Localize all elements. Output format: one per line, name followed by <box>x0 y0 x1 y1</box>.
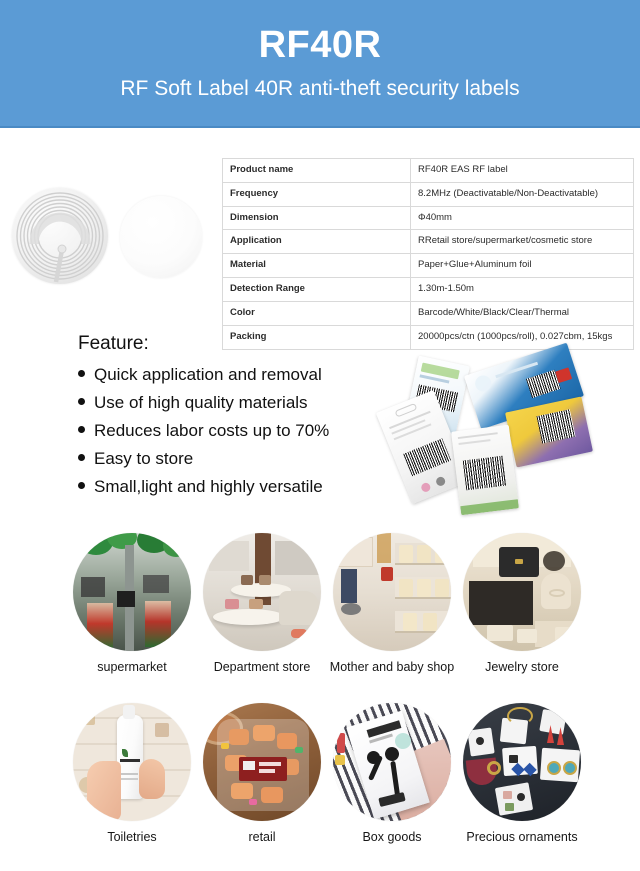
feature-text: Easy to store <box>94 448 193 471</box>
list-item: Reduces labor costs up to 70% <box>78 420 388 443</box>
package-item <box>451 425 519 515</box>
list-item: Small,light and highly versatile <box>78 476 388 499</box>
list-item: Quick application and removal <box>78 364 388 387</box>
application-caption: Department store <box>197 660 327 675</box>
page-header-banner: RF40R RF Soft Label 40R anti-theft secur… <box>0 0 640 128</box>
application-item-mother-baby-shop: Mother and baby shop <box>327 533 457 675</box>
spec-key: Detection Range <box>223 278 411 302</box>
toiletries-photo <box>73 703 191 821</box>
spec-key: Frequency <box>223 182 411 206</box>
table-row: Material Paper+Glue+Aluminum foil <box>223 254 634 278</box>
spec-key: Application <box>223 230 411 254</box>
spec-value: Barcode/White/Black/Clear/Thermal <box>411 301 634 325</box>
application-item-toiletries: Toiletries <box>67 703 197 845</box>
rf-label-coil-photo <box>12 188 108 284</box>
bullet-icon <box>78 426 85 433</box>
application-item-retail: retail <box>197 703 327 845</box>
feature-list-title: Feature: <box>78 333 388 356</box>
table-row: Product name RF40R EAS RF label <box>223 159 634 183</box>
application-row: Toiletries <box>0 703 640 871</box>
feature-text: Quick application and removal <box>94 364 322 387</box>
table-row: Application RRetail store/supermarket/co… <box>223 230 634 254</box>
list-item: Use of high quality materials <box>78 392 388 415</box>
feature-list-section: Feature: Quick application and removal U… <box>78 333 388 503</box>
page-subtitle: RF Soft Label 40R anti-theft security la… <box>120 77 519 100</box>
spec-value: 8.2MHz (Deactivatable/Non-Deactivatable) <box>411 182 634 206</box>
feature-text: Use of high quality materials <box>94 392 308 415</box>
baby-shop-photo <box>333 533 451 651</box>
application-caption: Box goods <box>327 830 457 845</box>
spec-key: Dimension <box>223 206 411 230</box>
application-caption: retail <box>197 830 327 845</box>
spec-value: 20000pcs/ctn (1000pcs/roll), 0.027cbm, 1… <box>411 325 634 349</box>
bullet-icon <box>78 482 85 489</box>
application-caption: Mother and baby shop <box>327 660 457 675</box>
spec-value: 1.30m-1.50m <box>411 278 634 302</box>
supermarket-photo <box>73 533 191 651</box>
feature-text: Small,light and highly versatile <box>94 476 323 499</box>
application-caption: Toiletries <box>67 830 197 845</box>
spec-key: Material <box>223 254 411 278</box>
application-item-box-goods: Box goods <box>327 703 457 845</box>
coil-antenna-graphic <box>12 188 108 284</box>
list-item: Easy to store <box>78 448 388 471</box>
spec-key: Product name <box>223 159 411 183</box>
application-caption: Jewelry store <box>457 660 587 675</box>
specification-table: Product name RF40R EAS RF label Frequenc… <box>222 158 634 350</box>
application-item-department-store: Department store <box>197 533 327 675</box>
department-store-photo <box>203 533 321 651</box>
application-caption: supermarket <box>67 660 197 675</box>
precious-ornaments-photo <box>463 703 581 821</box>
table-row: Color Barcode/White/Black/Clear/Thermal <box>223 301 634 325</box>
table-row: Detection Range 1.30m-1.50m <box>223 278 634 302</box>
bullet-icon <box>78 454 85 461</box>
box-goods-photo <box>333 703 451 821</box>
application-gallery: supermarket Department stor <box>0 533 640 871</box>
spec-key: Color <box>223 301 411 325</box>
retail-snacks-photo <box>203 703 321 821</box>
feature-text: Reduces labor costs up to 70% <box>94 420 329 443</box>
bullet-icon <box>78 370 85 377</box>
application-item-supermarket: supermarket <box>67 533 197 675</box>
application-row: supermarket Department stor <box>0 533 640 703</box>
rf-label-plain-photo <box>120 196 202 278</box>
bullet-icon <box>78 398 85 405</box>
spec-value: Paper+Glue+Aluminum foil <box>411 254 634 278</box>
table-row: Dimension Φ40mm <box>223 206 634 230</box>
page-title: RF40R <box>259 26 382 66</box>
retail-packages-photo <box>392 358 632 523</box>
application-item-precious-ornaments: Precious ornaments <box>457 703 587 845</box>
table-row: Frequency 8.2MHz (Deactivatable/Non-Deac… <box>223 182 634 206</box>
jewelry-store-photo <box>463 533 581 651</box>
product-detail-page: RF40R RF Soft Label 40R anti-theft secur… <box>0 0 640 871</box>
spec-value: Φ40mm <box>411 206 634 230</box>
application-item-jewelry-store: Jewelry store <box>457 533 587 675</box>
spec-value: RRetail store/supermarket/cosmetic store <box>411 230 634 254</box>
spec-value: RF40R EAS RF label <box>411 159 634 183</box>
application-caption: Precious ornaments <box>457 830 587 845</box>
